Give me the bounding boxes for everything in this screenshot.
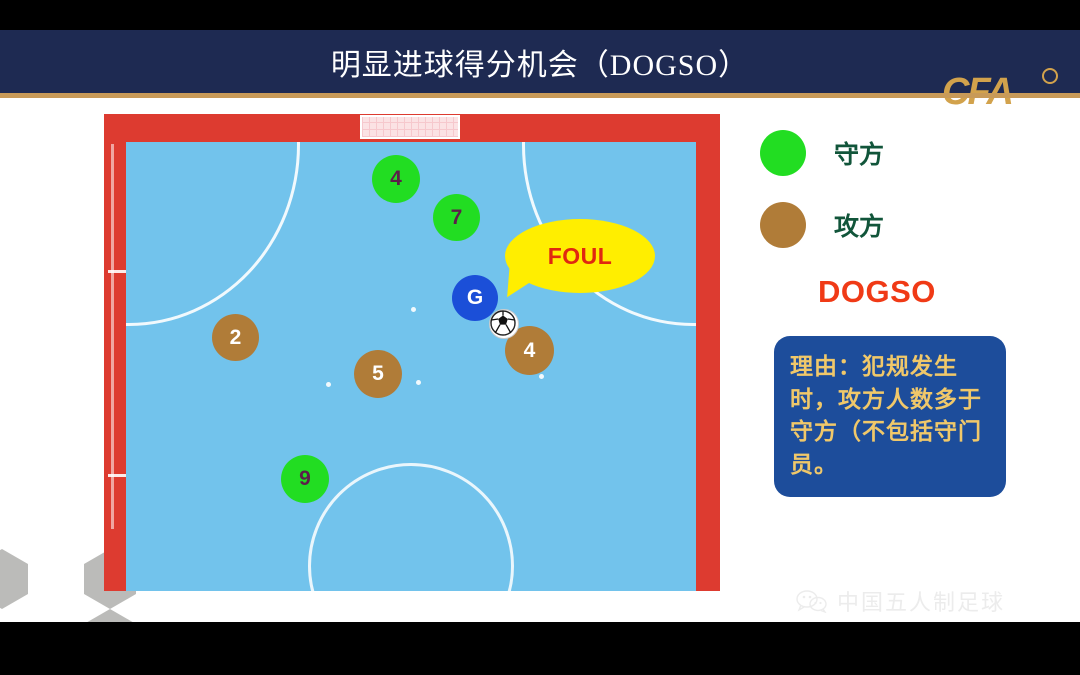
- watermark-text: 中国五人制足球: [837, 585, 1005, 617]
- penalty-spot-right: [539, 374, 544, 379]
- legend-label-attacking: 攻方: [834, 207, 884, 243]
- player-number: 7: [451, 206, 463, 230]
- penalty-spot-center: [416, 380, 421, 385]
- wechat-icon: [795, 589, 829, 613]
- header-gold-rule: [0, 93, 1080, 98]
- player-number: 2: [230, 326, 242, 350]
- cfa-logo: CFA: [942, 68, 1062, 116]
- legend-dot-attacking: [760, 202, 806, 248]
- letterbox-bottom: [0, 622, 1080, 675]
- pitch-left-sideline: [111, 144, 114, 529]
- foul-label: FOUL: [548, 243, 613, 270]
- goal-net-icon: [360, 115, 460, 139]
- player-number: 9: [299, 467, 311, 491]
- player-attacking-2[interactable]: 2: [212, 314, 259, 361]
- cfa-logo-text: CFA: [942, 70, 1046, 114]
- header-bar: 明显进球得分机会（DOGSO） CFA: [0, 30, 1080, 93]
- legend-item-attacking: 攻方: [760, 202, 1060, 248]
- player-number: 4: [524, 339, 536, 363]
- player-number: G: [467, 286, 483, 310]
- penalty-arc-left: [126, 142, 300, 326]
- player-defending-4[interactable]: 4: [372, 155, 420, 203]
- player-defending-7[interactable]: 7: [433, 194, 480, 241]
- futsal-pitch: 4 7 9 2 5 4 G FOUL: [104, 114, 720, 591]
- player-number: 5: [372, 362, 384, 386]
- penalty-spot-top: [411, 307, 416, 312]
- verdict-label: DOGSO: [818, 274, 1060, 310]
- soccer-ball-icon: [489, 309, 519, 339]
- reason-note: 理由：犯规发生时，攻方人数多于守方（不包括守门员。: [774, 336, 1006, 497]
- slide: 明显进球得分机会（DOGSO） CFA: [0, 0, 1080, 675]
- pitch-surface: [126, 142, 696, 591]
- legend-dot-defending: [760, 130, 806, 176]
- watermark: 中国五人制足球: [795, 585, 1005, 617]
- legend-label-defending: 守方: [834, 135, 884, 171]
- player-number: 4: [390, 167, 402, 191]
- foul-bubble[interactable]: FOUL: [505, 219, 655, 293]
- player-attacking-5[interactable]: 5: [354, 350, 402, 398]
- player-defending-9[interactable]: 9: [281, 455, 329, 503]
- letterbox-top: [0, 0, 1080, 30]
- penalty-spot-left: [326, 382, 331, 387]
- page-title: 明显进球得分机会（DOGSO）: [0, 30, 1080, 93]
- ball-icon: [1042, 68, 1058, 84]
- side-panel: 守方 攻方 DOGSO 理由：犯规发生时，攻方人数多于守方（不包括守门员。: [760, 130, 1060, 497]
- legend-item-defending: 守方: [760, 130, 1060, 176]
